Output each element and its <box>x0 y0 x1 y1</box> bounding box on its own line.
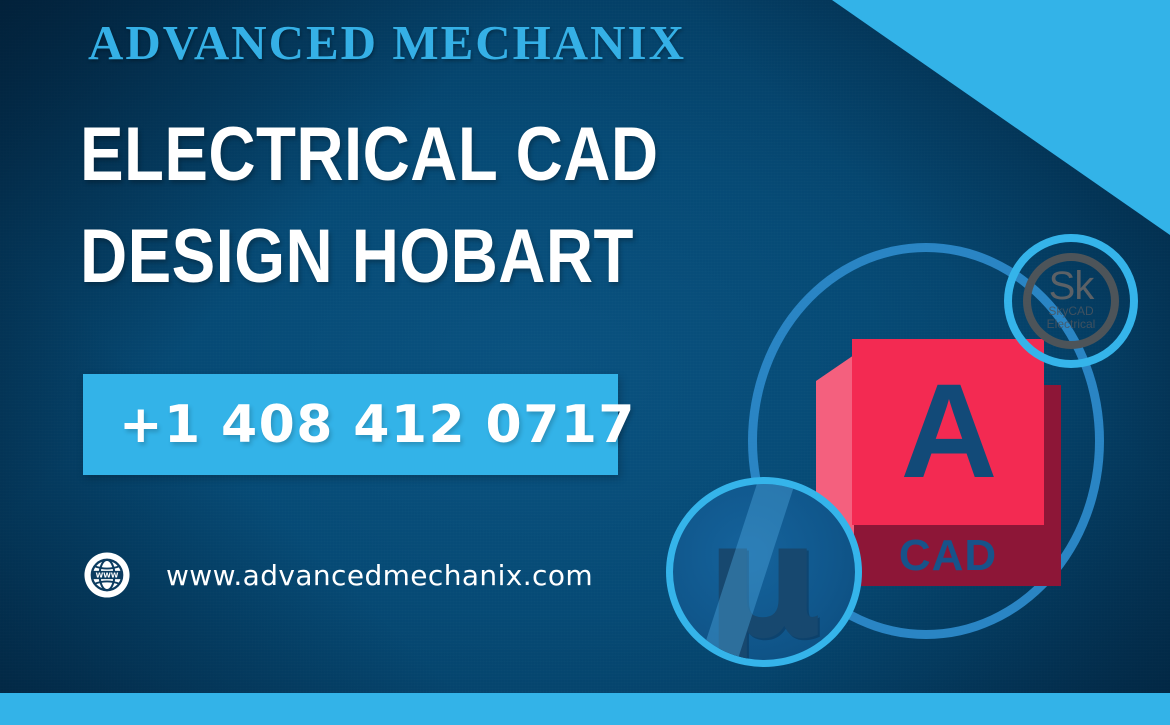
autocad-logo-letter: A <box>852 339 1044 525</box>
skycad-badge-inner-ring: Sk SkyCAD Electrical <box>1023 253 1119 349</box>
headline-line-2: DESIGN HOBART <box>80 206 682 308</box>
autocad-logo-label: CAD <box>852 525 1044 586</box>
headline-line-1: ELECTRICAL CAD <box>80 104 682 206</box>
svg-text:WWW: WWW <box>96 572 119 580</box>
skycad-badge-initials: Sk <box>1049 267 1094 305</box>
phone-number-banner[interactable]: +1 408 412 0717 <box>83 374 618 475</box>
skycad-badge-name-line2: Electrical <box>1047 318 1096 331</box>
brand-title: ADVANCED MECHANIX <box>88 18 686 67</box>
bottom-accent-strip <box>0 693 1170 725</box>
skycad-badge: Sk SkyCAD Electrical <box>1004 234 1138 368</box>
globe-icon: WWW <box>84 552 130 598</box>
website-row[interactable]: WWW www.advancedmechanix.com <box>84 552 593 598</box>
website-url-text: www.advancedmechanix.com <box>166 559 593 592</box>
headline: ELECTRICAL CAD DESIGN HOBART <box>80 104 780 308</box>
phone-number-text: +1 408 412 0717 <box>119 395 636 455</box>
promo-banner: A CAD Sk SkyCAD Electrical μ ADVANCED ME… <box>0 0 1170 725</box>
mu-symbol-circle: μ <box>666 477 862 667</box>
skycad-badge-name-line1: SkyCAD <box>1048 305 1093 318</box>
